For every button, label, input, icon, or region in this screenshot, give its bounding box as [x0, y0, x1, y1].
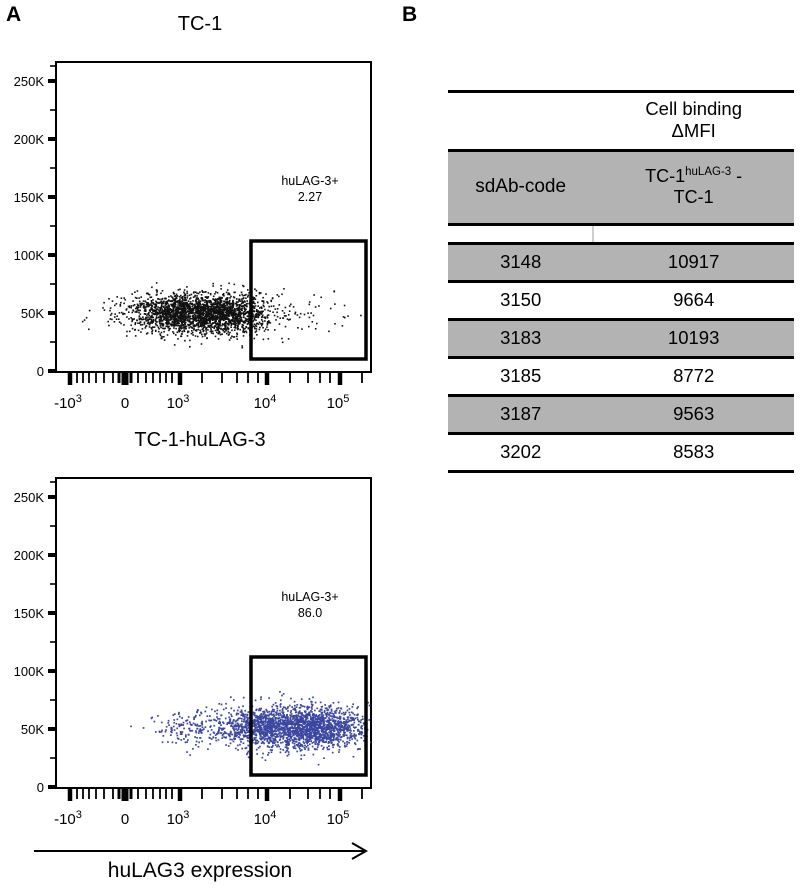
- spacer-cell-left: [448, 224, 593, 243]
- supertitle-cell: Cell binding ΔMFI: [593, 92, 794, 151]
- svg-text:0: 0: [37, 364, 44, 379]
- svg-text:50K: 50K: [21, 722, 44, 737]
- column-header-sdab-code: sdAb-code: [448, 150, 593, 224]
- svg-text:103: 103: [167, 393, 190, 412]
- svg-text:-103: -103: [54, 809, 82, 828]
- y-axis-ticks: [48, 66, 56, 371]
- header-main: TC-1: [645, 166, 685, 186]
- flow-plot-tc1: TC-1: [0, 14, 400, 414]
- cell-dmfi: 10917: [593, 243, 794, 281]
- svg-text:0: 0: [121, 395, 129, 412]
- header-line2: TC-1: [674, 187, 714, 207]
- svg-text:100K: 100K: [14, 248, 45, 263]
- x-tick-labels: -103 0 103 104 105: [54, 393, 349, 412]
- cell-sdab-code: 3148: [448, 243, 593, 281]
- gate-label-tc1-hulag3: huLAG-3+ 86.0: [251, 590, 369, 621]
- cell-sdab-code: 3187: [448, 395, 593, 433]
- spacer-cell-right: [593, 224, 794, 243]
- supertitle-line2: ΔMFI: [593, 120, 794, 142]
- table-row[interactable]: 3150 9664: [448, 281, 794, 319]
- x-axis-ticks: [70, 788, 362, 801]
- cell-binding-table: Cell binding ΔMFI sdAb-code TC-1huLAG-3 …: [448, 90, 794, 473]
- cell-sdab-code: 3183: [448, 319, 593, 357]
- table-row[interactable]: 3187 9563: [448, 395, 794, 433]
- x-axis-ticks: [70, 372, 362, 385]
- cell-sdab-code: 3150: [448, 281, 593, 319]
- supertitle-spacer: [448, 92, 593, 151]
- x-tick-labels: -103 0 103 104 105: [54, 809, 349, 828]
- svg-text:150K: 150K: [14, 190, 45, 205]
- x-axis-arrow-icon: [30, 840, 375, 860]
- x-axis-title: huLAG3 expression: [0, 860, 400, 881]
- cell-dmfi: 8772: [593, 357, 794, 395]
- table-supertitle-row: Cell binding ΔMFI: [448, 92, 794, 151]
- cell-sdab-code: 3185: [448, 357, 593, 395]
- cell-sdab-code: 3202: [448, 433, 593, 471]
- y-tick-labels: 0 50K 100K 150K 200K 250K: [14, 74, 45, 379]
- header-superscript: huLAG-3: [685, 166, 731, 178]
- table-row[interactable]: 3185 8772: [448, 357, 794, 395]
- panel-label-b: B: [402, 4, 417, 25]
- svg-text:100K: 100K: [14, 664, 45, 679]
- gate-label-tc1: huLAG-3+ 2.27: [251, 174, 369, 205]
- svg-text:200K: 200K: [14, 548, 45, 563]
- svg-text:200K: 200K: [14, 132, 45, 147]
- table-row[interactable]: 3202 8583: [448, 433, 794, 471]
- svg-text:-103: -103: [54, 393, 82, 412]
- flow-plot-tc1-hulag3: TC-1-huLAG-3: [0, 430, 400, 830]
- gate-name: huLAG-3+: [251, 174, 369, 190]
- svg-text:0: 0: [37, 780, 44, 795]
- svg-text:105: 105: [327, 809, 350, 828]
- table-row[interactable]: 3183 10193: [448, 319, 794, 357]
- svg-text:103: 103: [167, 809, 190, 828]
- svg-text:50K: 50K: [21, 306, 44, 321]
- flow-plot-tc1-canvas: 0 50K 100K 150K 200K 250K -103 0 103 104…: [0, 14, 400, 414]
- table-header-row: sdAb-code TC-1huLAG-3 - TC-1: [448, 150, 794, 224]
- svg-text:250K: 250K: [14, 74, 45, 89]
- svg-text:104: 104: [254, 809, 277, 828]
- plot-frame: [56, 62, 371, 372]
- svg-text:0: 0: [121, 811, 129, 828]
- svg-text:150K: 150K: [14, 606, 45, 621]
- cell-dmfi: 9563: [593, 395, 794, 433]
- svg-text:105: 105: [327, 393, 350, 412]
- cell-dmfi: 10193: [593, 319, 794, 357]
- supertitle-line1: Cell binding: [593, 98, 794, 120]
- svg-text:250K: 250K: [14, 490, 45, 505]
- gate-name: huLAG-3+: [251, 590, 369, 606]
- gate-percent: 2.27: [251, 190, 369, 206]
- cell-dmfi: 9664: [593, 281, 794, 319]
- table-spacer-row: [448, 224, 794, 243]
- svg-text:104: 104: [254, 393, 277, 412]
- header-tail: -: [731, 166, 742, 186]
- figure-root: A B TC-1: [0, 0, 800, 894]
- y-tick-labels: 0 50K 100K 150K 200K 250K: [14, 490, 45, 795]
- flow-plot-tc1-hulag3-canvas: 0 50K 100K 150K 200K 250K -103 0 103 104…: [0, 430, 400, 830]
- table-row[interactable]: 3148 10917: [448, 243, 794, 281]
- gate-percent: 86.0: [251, 606, 369, 622]
- y-axis-ticks: [48, 482, 56, 787]
- column-header-dmfi: TC-1huLAG-3 - TC-1: [593, 150, 794, 224]
- cell-dmfi: 8583: [593, 433, 794, 471]
